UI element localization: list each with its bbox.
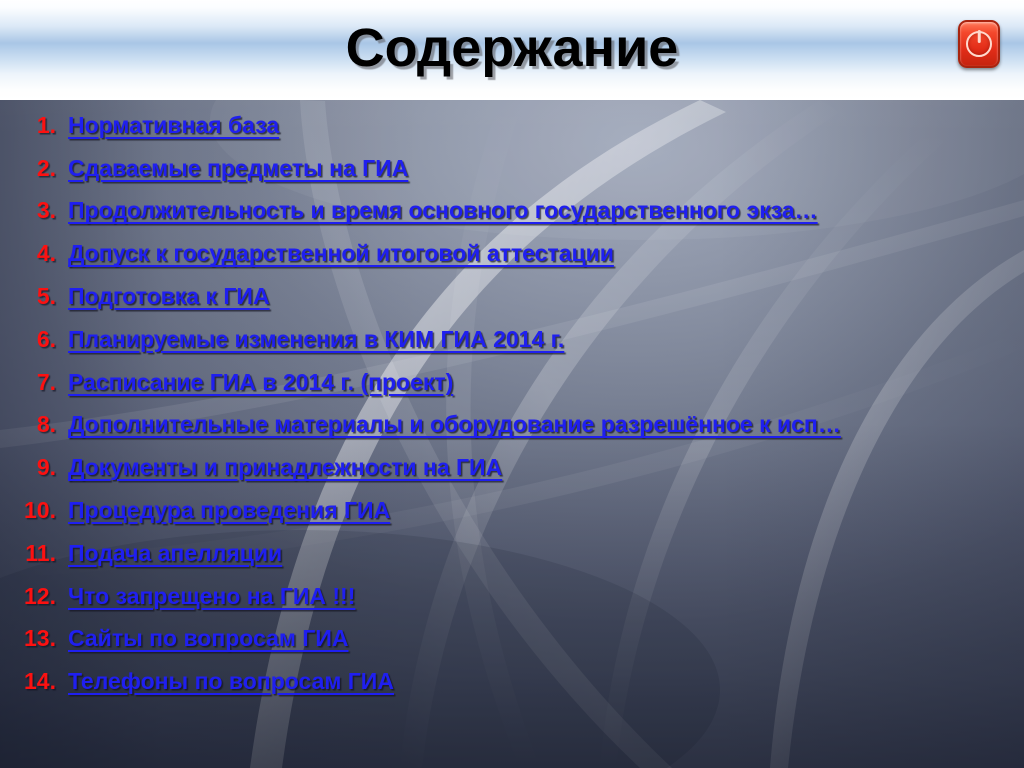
- toc-link-chto-zapreshcheno[interactable]: Что запрещено на ГИА !!!: [68, 583, 355, 610]
- toc-link-planiruemye-izmeneniya[interactable]: Планируемые изменения в КИМ ГИА 2014 г.: [68, 326, 564, 353]
- list-item[interactable]: 8. Дополнительные материалы и оборудован…: [0, 404, 1024, 447]
- table-of-contents: 1. Нормативная база 2. Сдаваемые предмет…: [0, 104, 1024, 703]
- list-item-number: 8.: [0, 411, 68, 438]
- list-item-number: 2.: [0, 155, 68, 182]
- list-item-number: 7.: [0, 369, 68, 396]
- list-item[interactable]: 1. Нормативная база: [0, 104, 1024, 147]
- toc-link-dopusk[interactable]: Допуск к государственной итоговой аттест…: [68, 240, 614, 267]
- page-title: Содержание: [0, 16, 1024, 80]
- power-glyph-icon: [966, 31, 992, 57]
- list-item-number: 10.: [0, 497, 68, 524]
- list-item[interactable]: 2. Сдаваемые предметы на ГИА: [0, 147, 1024, 190]
- list-item-number: 5.: [0, 283, 68, 310]
- list-item[interactable]: 14. Телефоны по вопросам ГИА: [0, 660, 1024, 703]
- presentation-slide: Содержание 1. Нормативная база 2. Сдавае…: [0, 0, 1024, 768]
- list-item[interactable]: 4. Допуск к государственной итоговой атт…: [0, 232, 1024, 275]
- list-item[interactable]: 13. Сайты по вопросам ГИА: [0, 618, 1024, 661]
- list-item-number: 4.: [0, 240, 68, 267]
- toc-link-procedura[interactable]: Процедура проведения ГИА: [68, 497, 390, 524]
- list-item[interactable]: 11. Подача апелляции: [0, 532, 1024, 575]
- list-item[interactable]: 10. Процедура проведения ГИА: [0, 489, 1024, 532]
- list-item[interactable]: 3. Продолжительность и время основного г…: [0, 190, 1024, 233]
- toc-link-sayty[interactable]: Сайты по вопросам ГИА: [68, 625, 348, 652]
- list-item-number: 6.: [0, 326, 68, 353]
- toc-link-telefony[interactable]: Телефоны по вопросам ГИА: [68, 668, 394, 695]
- list-item[interactable]: 5. Подготовка к ГИА: [0, 275, 1024, 318]
- toc-link-normativnaya-baza[interactable]: Нормативная база: [68, 112, 279, 139]
- list-item-number: 13.: [0, 625, 68, 652]
- toc-link-dopolnitelnye-materialy[interactable]: Дополнительные материалы и оборудование …: [68, 411, 841, 438]
- toc-link-prodolzhitelnost[interactable]: Продолжительность и время основного госу…: [68, 197, 818, 224]
- power-icon[interactable]: [958, 20, 1000, 68]
- toc-link-sdavaemye-predmety[interactable]: Сдаваемые предметы на ГИА: [68, 155, 408, 182]
- toc-link-raspisanie[interactable]: Расписание ГИА в 2014 г. (проект): [68, 369, 453, 396]
- list-item-number: 12.: [0, 583, 68, 610]
- toc-link-dokumenty[interactable]: Документы и принадлежности на ГИА: [68, 454, 502, 481]
- list-item[interactable]: 6. Планируемые изменения в КИМ ГИА 2014 …: [0, 318, 1024, 361]
- list-item-number: 1.: [0, 112, 68, 139]
- list-item[interactable]: 9. Документы и принадлежности на ГИА: [0, 446, 1024, 489]
- list-item[interactable]: 12. Что запрещено на ГИА !!!: [0, 575, 1024, 618]
- list-item-number: 14.: [0, 668, 68, 695]
- list-item[interactable]: 7. Расписание ГИА в 2014 г. (проект): [0, 361, 1024, 404]
- list-item-number: 3.: [0, 197, 68, 224]
- list-item-number: 11.: [0, 540, 68, 567]
- toc-link-podacha-apellyacii[interactable]: Подача апелляции: [68, 540, 282, 567]
- slide-header: Содержание: [0, 0, 1024, 100]
- toc-link-podgotovka[interactable]: Подготовка к ГИА: [68, 283, 270, 310]
- list-item-number: 9.: [0, 454, 68, 481]
